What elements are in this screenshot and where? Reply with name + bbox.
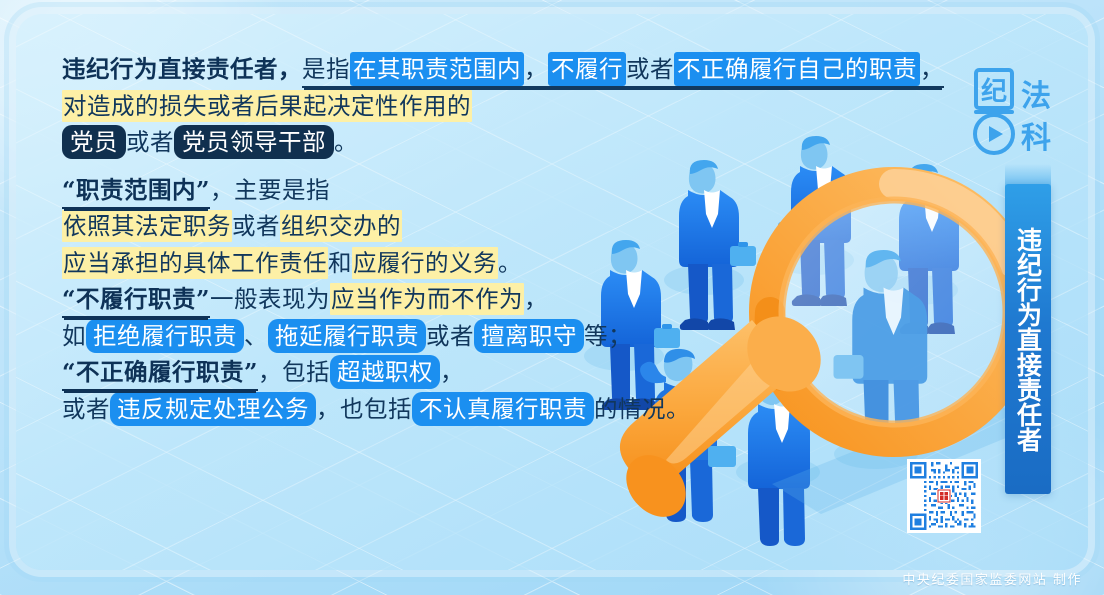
p1-l1-term: 违纪行为直接责任者， — [62, 55, 302, 83]
p3-l1-mid: 一般表现为 — [210, 285, 330, 313]
p1-line-2: 对造成的损失或者后果起决定性作用的 — [62, 95, 692, 119]
p2-l3-hl-duty: 应当承担的具体工作责任 — [62, 247, 328, 279]
p2-l2-hl-statutory: 依照其法定职务 — [62, 210, 232, 242]
p4-l2-pill-violate: 违反规定处理公务 — [110, 392, 316, 426]
p4-line-2: 或者违反规定处理公务，也包括不认真履行职责的情况。 — [62, 398, 692, 422]
p3-l2-or: 或者 — [426, 322, 474, 350]
p1-l1-or: 或者 — [626, 55, 674, 83]
p3-l2-etc: 等； — [584, 322, 632, 350]
p1-l3-period: 。 — [334, 128, 358, 156]
content-card: 违纪行为直接责任者，是指在其职责范围内，不履行或者不正确履行自己的职责， 对造成… — [16, 14, 1088, 570]
vertical-title-bar: 违纪行为直接责任者 — [1005, 184, 1051, 494]
p1-l3-pill-member: 党员 — [62, 125, 126, 159]
p4-l2-end: 的情况。 — [594, 395, 690, 423]
logo-char-ji: 纪 — [981, 76, 1007, 107]
p4-l1-mid: ，包括 — [258, 358, 330, 386]
p1-l3-pill-leader: 党员领导干部 — [174, 125, 334, 159]
p4-l2-also: ，也包括 — [316, 395, 412, 423]
p1-l1-comma1: ， — [524, 55, 548, 83]
p2-heading: “职责范围内” — [62, 176, 210, 209]
figure-magnified — [834, 250, 928, 455]
p4-line-1: “不正确履行职责”，包括超越职权， — [62, 361, 692, 385]
p1-l3-or: 或者 — [126, 128, 174, 156]
article-text: 违纪行为直接责任者，是指在其职责范围内，不履行或者不正确履行自己的职责， 对造成… — [62, 58, 692, 434]
p3-l2-pill-refuse: 拒绝履行职责 — [86, 319, 244, 353]
p4-heading: “不正确履行职责” — [62, 358, 258, 391]
p3-heading: “不履行职责” — [62, 285, 210, 318]
p2-line-3: 应当承担的具体工作责任和应履行的义务。 — [62, 252, 692, 276]
p3-l2-sep1: 、 — [244, 322, 268, 350]
p1-l1-underline-group: 是指在其职责范围内，不履行或者不正确履行自己的职责， — [302, 55, 944, 88]
infographic-poster: 违纪行为直接责任者，是指在其职责范围内，不履行或者不正确履行自己的职责， 对造成… — [0, 0, 1104, 595]
p1-l2-hl: 对造成的损失或者后果起决定性作用的 — [62, 90, 472, 122]
p4-l1-pill-overstep: 超越职权 — [330, 355, 440, 389]
p2-l3-period: 。 — [498, 249, 522, 277]
p3-l1-hl: 应当作为而不作为 — [330, 283, 524, 315]
p2-l3-and: 和 — [328, 249, 352, 277]
vertical-title-text: 违纪行为直接责任者 — [1014, 227, 1043, 452]
p3-l2-pill-abandon: 擅离职守 — [474, 319, 584, 353]
p4-l2-or: 或者 — [62, 395, 110, 423]
p3-line-1: “不履行职责”一般表现为应当作为而不作为， — [62, 288, 692, 312]
p1-line-3: 党员或者党员领导干部。 — [62, 131, 692, 155]
p1-l1-hl-scope: 在其职责范围内 — [350, 52, 524, 86]
p3-l2-pill-delay: 拖延履行职责 — [268, 319, 426, 353]
figure-6 — [748, 373, 810, 546]
p2-l2-or: 或者 — [232, 212, 280, 240]
figure-4 — [899, 164, 959, 334]
p1-l1-hl-nonperform: 不履行 — [548, 52, 626, 86]
p3-l2-such-as: 如 — [62, 322, 86, 350]
brand-logo-jifa-baike[interactable]: 纪 法 科 — [968, 66, 1060, 162]
play-icon — [989, 126, 1003, 142]
p1-l1-hl-improper: 不正确履行自己的职责 — [674, 52, 920, 86]
p1-l1-comma2: ， — [920, 55, 944, 83]
p1-l1-plain: 是指 — [302, 55, 350, 83]
p4-l2-pill-negligent: 不认真履行职责 — [412, 392, 594, 426]
p2-line-2: 依照其法定职务或者组织交办的 — [62, 215, 692, 239]
p2-l2-hl-assigned: 组织交办的 — [280, 210, 402, 242]
footer-credit: 中央纪委国家监委网站 制作 — [902, 569, 1082, 588]
qr-code[interactable] — [907, 459, 981, 533]
p2-l1-rest: ，主要是指 — [210, 176, 330, 204]
p2-l3-hl-obligation: 应履行的义务 — [352, 247, 498, 279]
logo-char-fa: 法 — [1021, 79, 1051, 114]
p1-line-1: 违纪行为直接责任者，是指在其职责范围内，不履行或者不正确履行自己的职责， — [62, 58, 692, 82]
p4-l1-end: ， — [440, 358, 464, 386]
figure-3 — [778, 136, 851, 306]
p3-line-2: 如拒绝履行职责、拖延履行职责或者擅离职守等； — [62, 325, 692, 349]
logo-char-ke: 科 — [1021, 121, 1051, 156]
p2-line-1: “职责范围内”，主要是指 — [62, 179, 692, 203]
p3-l1-end: ， — [524, 285, 548, 313]
